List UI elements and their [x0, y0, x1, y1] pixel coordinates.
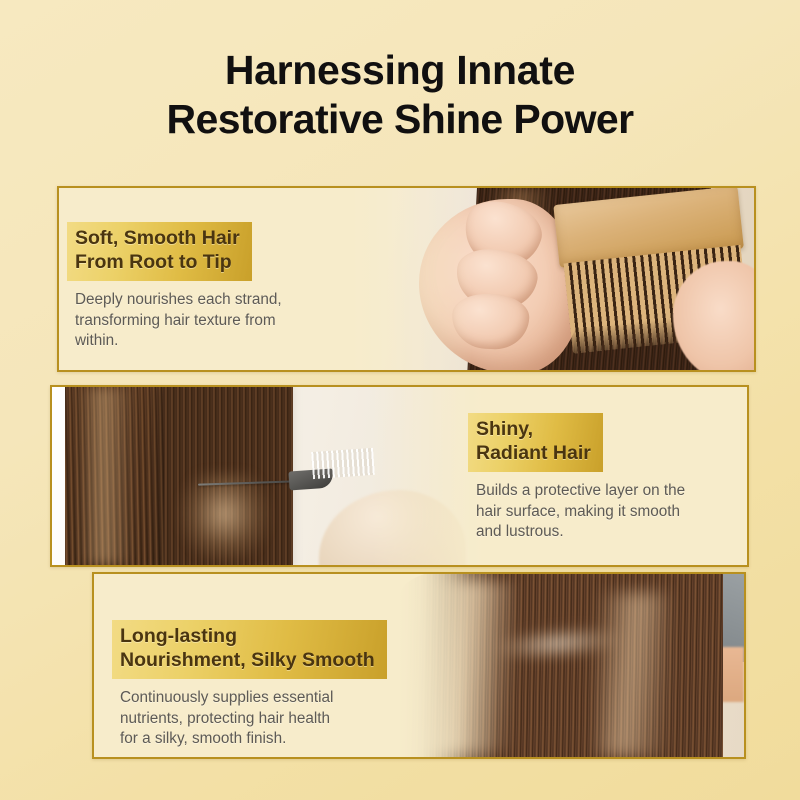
page-title-line-1: Harnessing Innate [0, 46, 800, 95]
panel-2-photo-shiny-hair-tail-comb [52, 387, 483, 565]
panel-2-text-block: Shiny, Radiant Hair Builds a protective … [468, 413, 748, 543]
page-title-line-2: Restorative Shine Power [0, 95, 800, 144]
panel-3-body: Continuously supplies essential nutrient… [120, 688, 442, 751]
panel-3-photo-glossy-straight-hair [393, 574, 744, 757]
feature-panel-long-lasting-nourishment: Long-lasting Nourishment, Silky Smooth C… [92, 572, 746, 759]
panel-1-body: Deeply nourishes each strand, transformi… [75, 290, 367, 353]
panel-2-body: Builds a protective layer on the hair su… [476, 481, 748, 544]
panel-3-text-block: Long-lasting Nourishment, Silky Smooth C… [112, 620, 442, 750]
panel-2-heading: Shiny, Radiant Hair [468, 413, 603, 472]
panel-1-heading: Soft, Smooth Hair From Root to Tip [67, 222, 252, 281]
feature-panel-soft-smooth-hair: Soft, Smooth Hair From Root to Tip Deepl… [57, 186, 756, 372]
panel-3-heading: Long-lasting Nourishment, Silky Smooth [112, 620, 387, 679]
page-title: Harnessing Innate Restorative Shine Powe… [0, 46, 800, 144]
panel-1-text-block: Soft, Smooth Hair From Root to Tip Deepl… [67, 222, 367, 352]
panel-1-photo-hands-combing-hair [351, 188, 754, 370]
feature-panel-shiny-radiant-hair: Shiny, Radiant Hair Builds a protective … [50, 385, 749, 567]
